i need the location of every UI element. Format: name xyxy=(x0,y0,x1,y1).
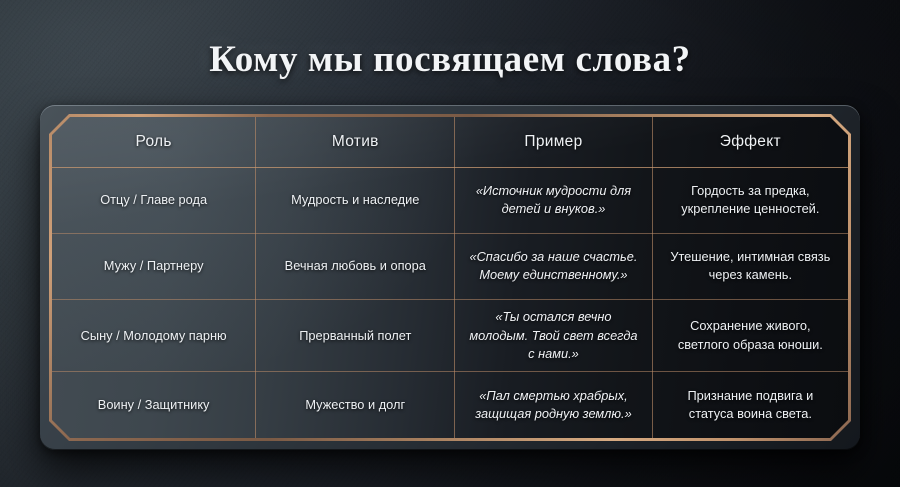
cell-example: «Источник мудрости для детей и внуков.» xyxy=(455,167,652,233)
column-header-motive: Мотив xyxy=(256,117,455,167)
roles-table: Роль Мотив Пример Эффект Отцу / Главе ро… xyxy=(52,117,848,438)
cell-motive: Мужество и долг xyxy=(256,372,455,438)
table-row: Мужу / Партнеру Вечная любовь и опора «С… xyxy=(52,233,848,299)
cell-role: Воину / Защитнику xyxy=(52,372,256,438)
cell-effect: Сохранение живого, светлого образа юноши… xyxy=(652,299,848,371)
cell-role: Отцу / Главе рода xyxy=(52,167,256,233)
plaque-frame: Роль Мотив Пример Эффект Отцу / Главе ро… xyxy=(40,105,860,450)
cell-effect: Гордость за предка, укрепление ценностей… xyxy=(652,167,848,233)
table-row: Воину / Защитнику Мужество и долг «Пал с… xyxy=(52,372,848,438)
cell-example: «Ты остался вечно молодым. Твой свет все… xyxy=(455,299,652,371)
cell-motive: Прерванный полет xyxy=(256,299,455,371)
cell-role: Мужу / Партнеру xyxy=(52,233,256,299)
table-row: Сыну / Молодому парню Прерванный полет «… xyxy=(52,299,848,371)
column-header-example: Пример xyxy=(455,117,652,167)
cell-effect: Утешение, интимная связь через камень. xyxy=(652,233,848,299)
table-header-row: Роль Мотив Пример Эффект xyxy=(52,117,848,167)
slide-canvas: Кому мы посвящаем слова? Роль Мотив Прим… xyxy=(0,0,900,487)
cell-motive: Мудрость и наследие xyxy=(256,167,455,233)
cell-effect: Признание подвига и статуса воина света. xyxy=(652,372,848,438)
cell-example: «Пал смертью храбрых, защищая родную зем… xyxy=(455,372,652,438)
cell-motive: Вечная любовь и опора xyxy=(256,233,455,299)
page-title: Кому мы посвящаем слова? xyxy=(0,38,900,81)
cell-role: Сыну / Молодому парню xyxy=(52,299,256,371)
column-header-effect: Эффект xyxy=(652,117,848,167)
column-header-role: Роль xyxy=(52,117,256,167)
table-surface: Роль Мотив Пример Эффект Отцу / Главе ро… xyxy=(52,117,848,438)
cell-example: «Спасибо за наше счастье. Моему единстве… xyxy=(455,233,652,299)
table-row: Отцу / Главе рода Мудрость и наследие «И… xyxy=(52,167,848,233)
copper-border: Роль Мотив Пример Эффект Отцу / Главе ро… xyxy=(49,114,851,441)
